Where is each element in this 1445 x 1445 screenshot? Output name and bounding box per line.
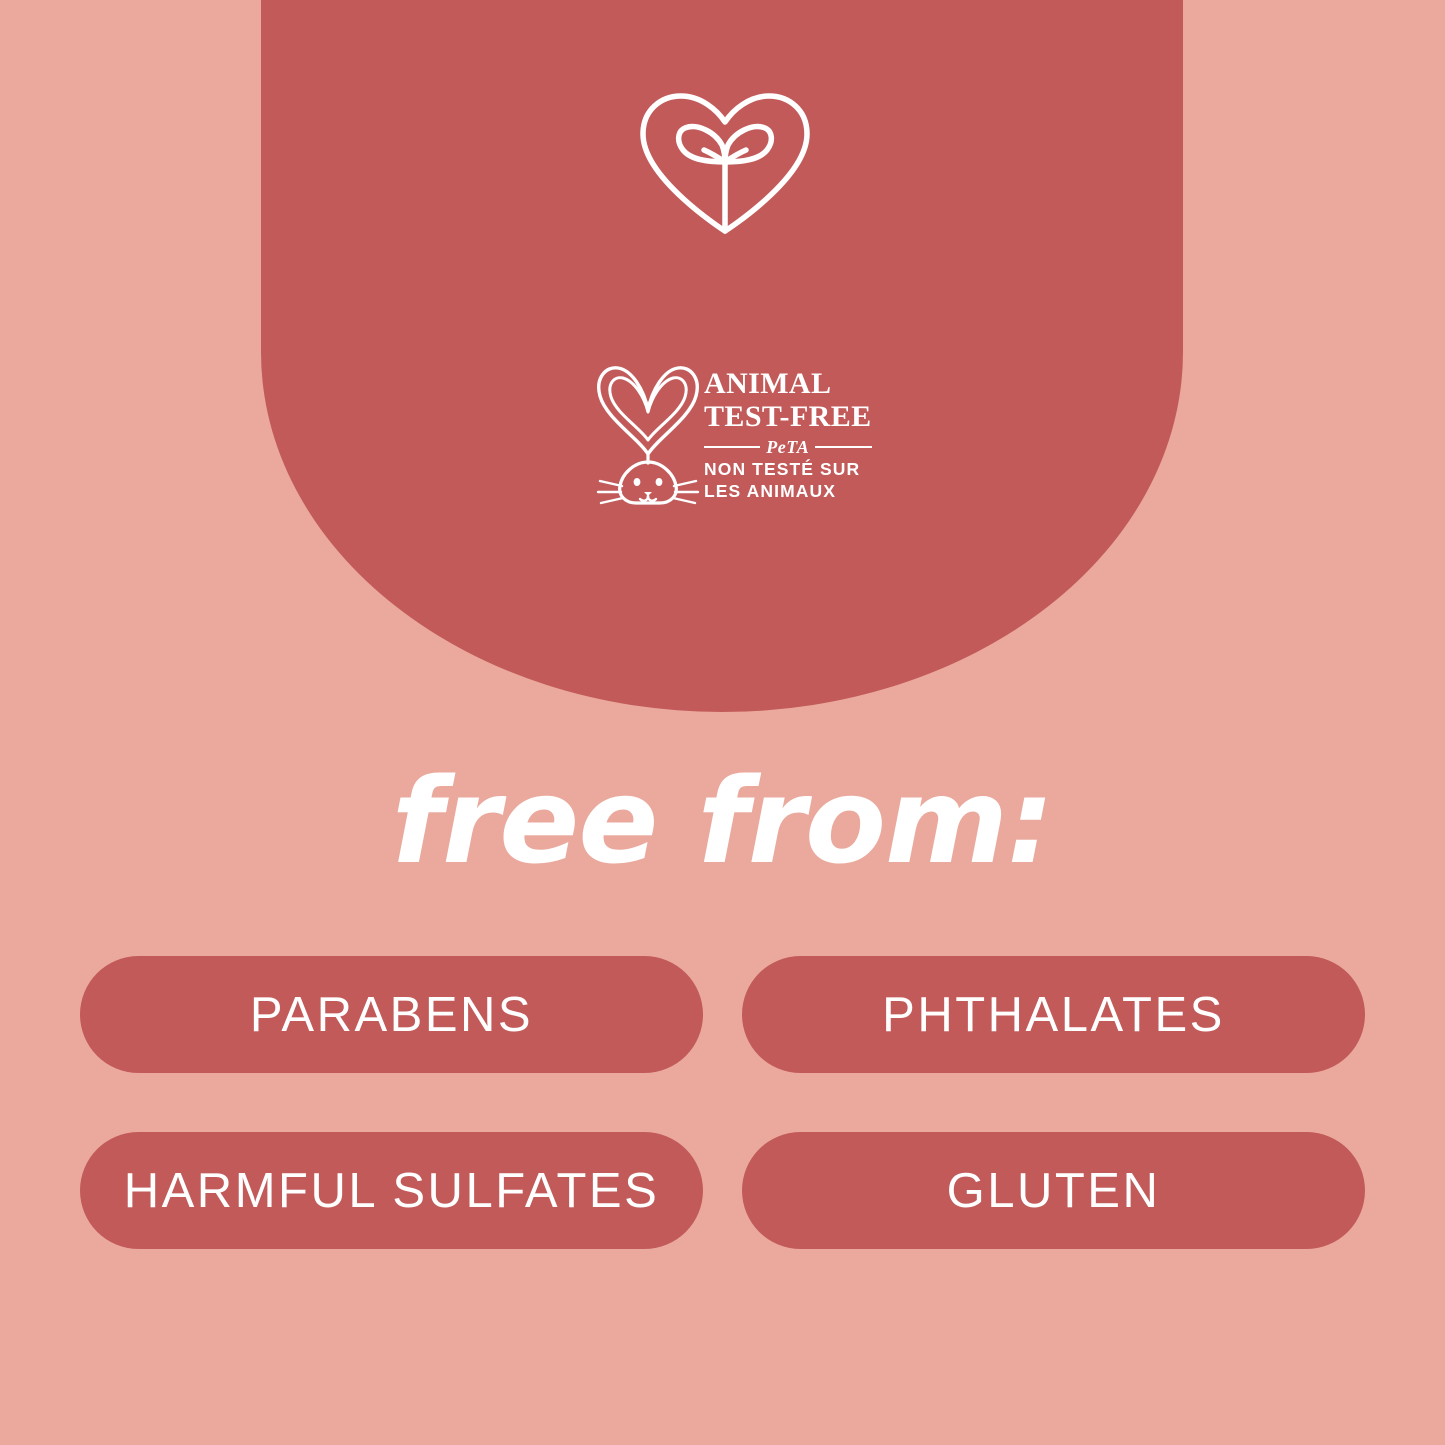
peta-brand-row: PeTA [704,438,872,456]
page-title: free from: [0,762,1445,880]
pill-label: PHTHALATES [882,987,1225,1043]
free-from-pill-parabens: PARABENS [80,956,703,1073]
peta-line-french-1: NON TESTÉ SUR [704,461,872,479]
peta-rule-left [704,446,760,448]
free-from-pill-harmful-sulfates: HARMFUL SULFATES [80,1132,703,1249]
pill-label: GLUTEN [947,1163,1161,1219]
pill-label: PARABENS [250,987,533,1043]
peta-line-test-free: TEST-FREE [704,402,872,432]
peta-line-animal: ANIMAL [704,369,872,399]
free-from-pill-phthalates: PHTHALATES [742,956,1365,1073]
peta-logo-text: ANIMAL TEST-FREE PeTA NON TESTÉ SUR LES … [704,362,872,500]
free-from-list: PARABENS PHTHALATES HARMFUL SULFATES GLU… [80,956,1365,1249]
peta-line-french-2: LES ANIMAUX [704,483,872,501]
pill-label: HARMFUL SULFATES [124,1163,660,1219]
free-from-pill-gluten: GLUTEN [742,1132,1365,1249]
peta-bunny-heart-icon [592,362,704,507]
peta-rule-right [815,446,871,448]
peta-brand-label: PeTA [766,438,809,456]
heart-sprout-icon [633,88,817,238]
peta-animal-test-free-logo: ANIMAL TEST-FREE PeTA NON TESTÉ SUR LES … [592,362,864,507]
product-claims-graphic: ANIMAL TEST-FREE PeTA NON TESTÉ SUR LES … [0,0,1445,1445]
